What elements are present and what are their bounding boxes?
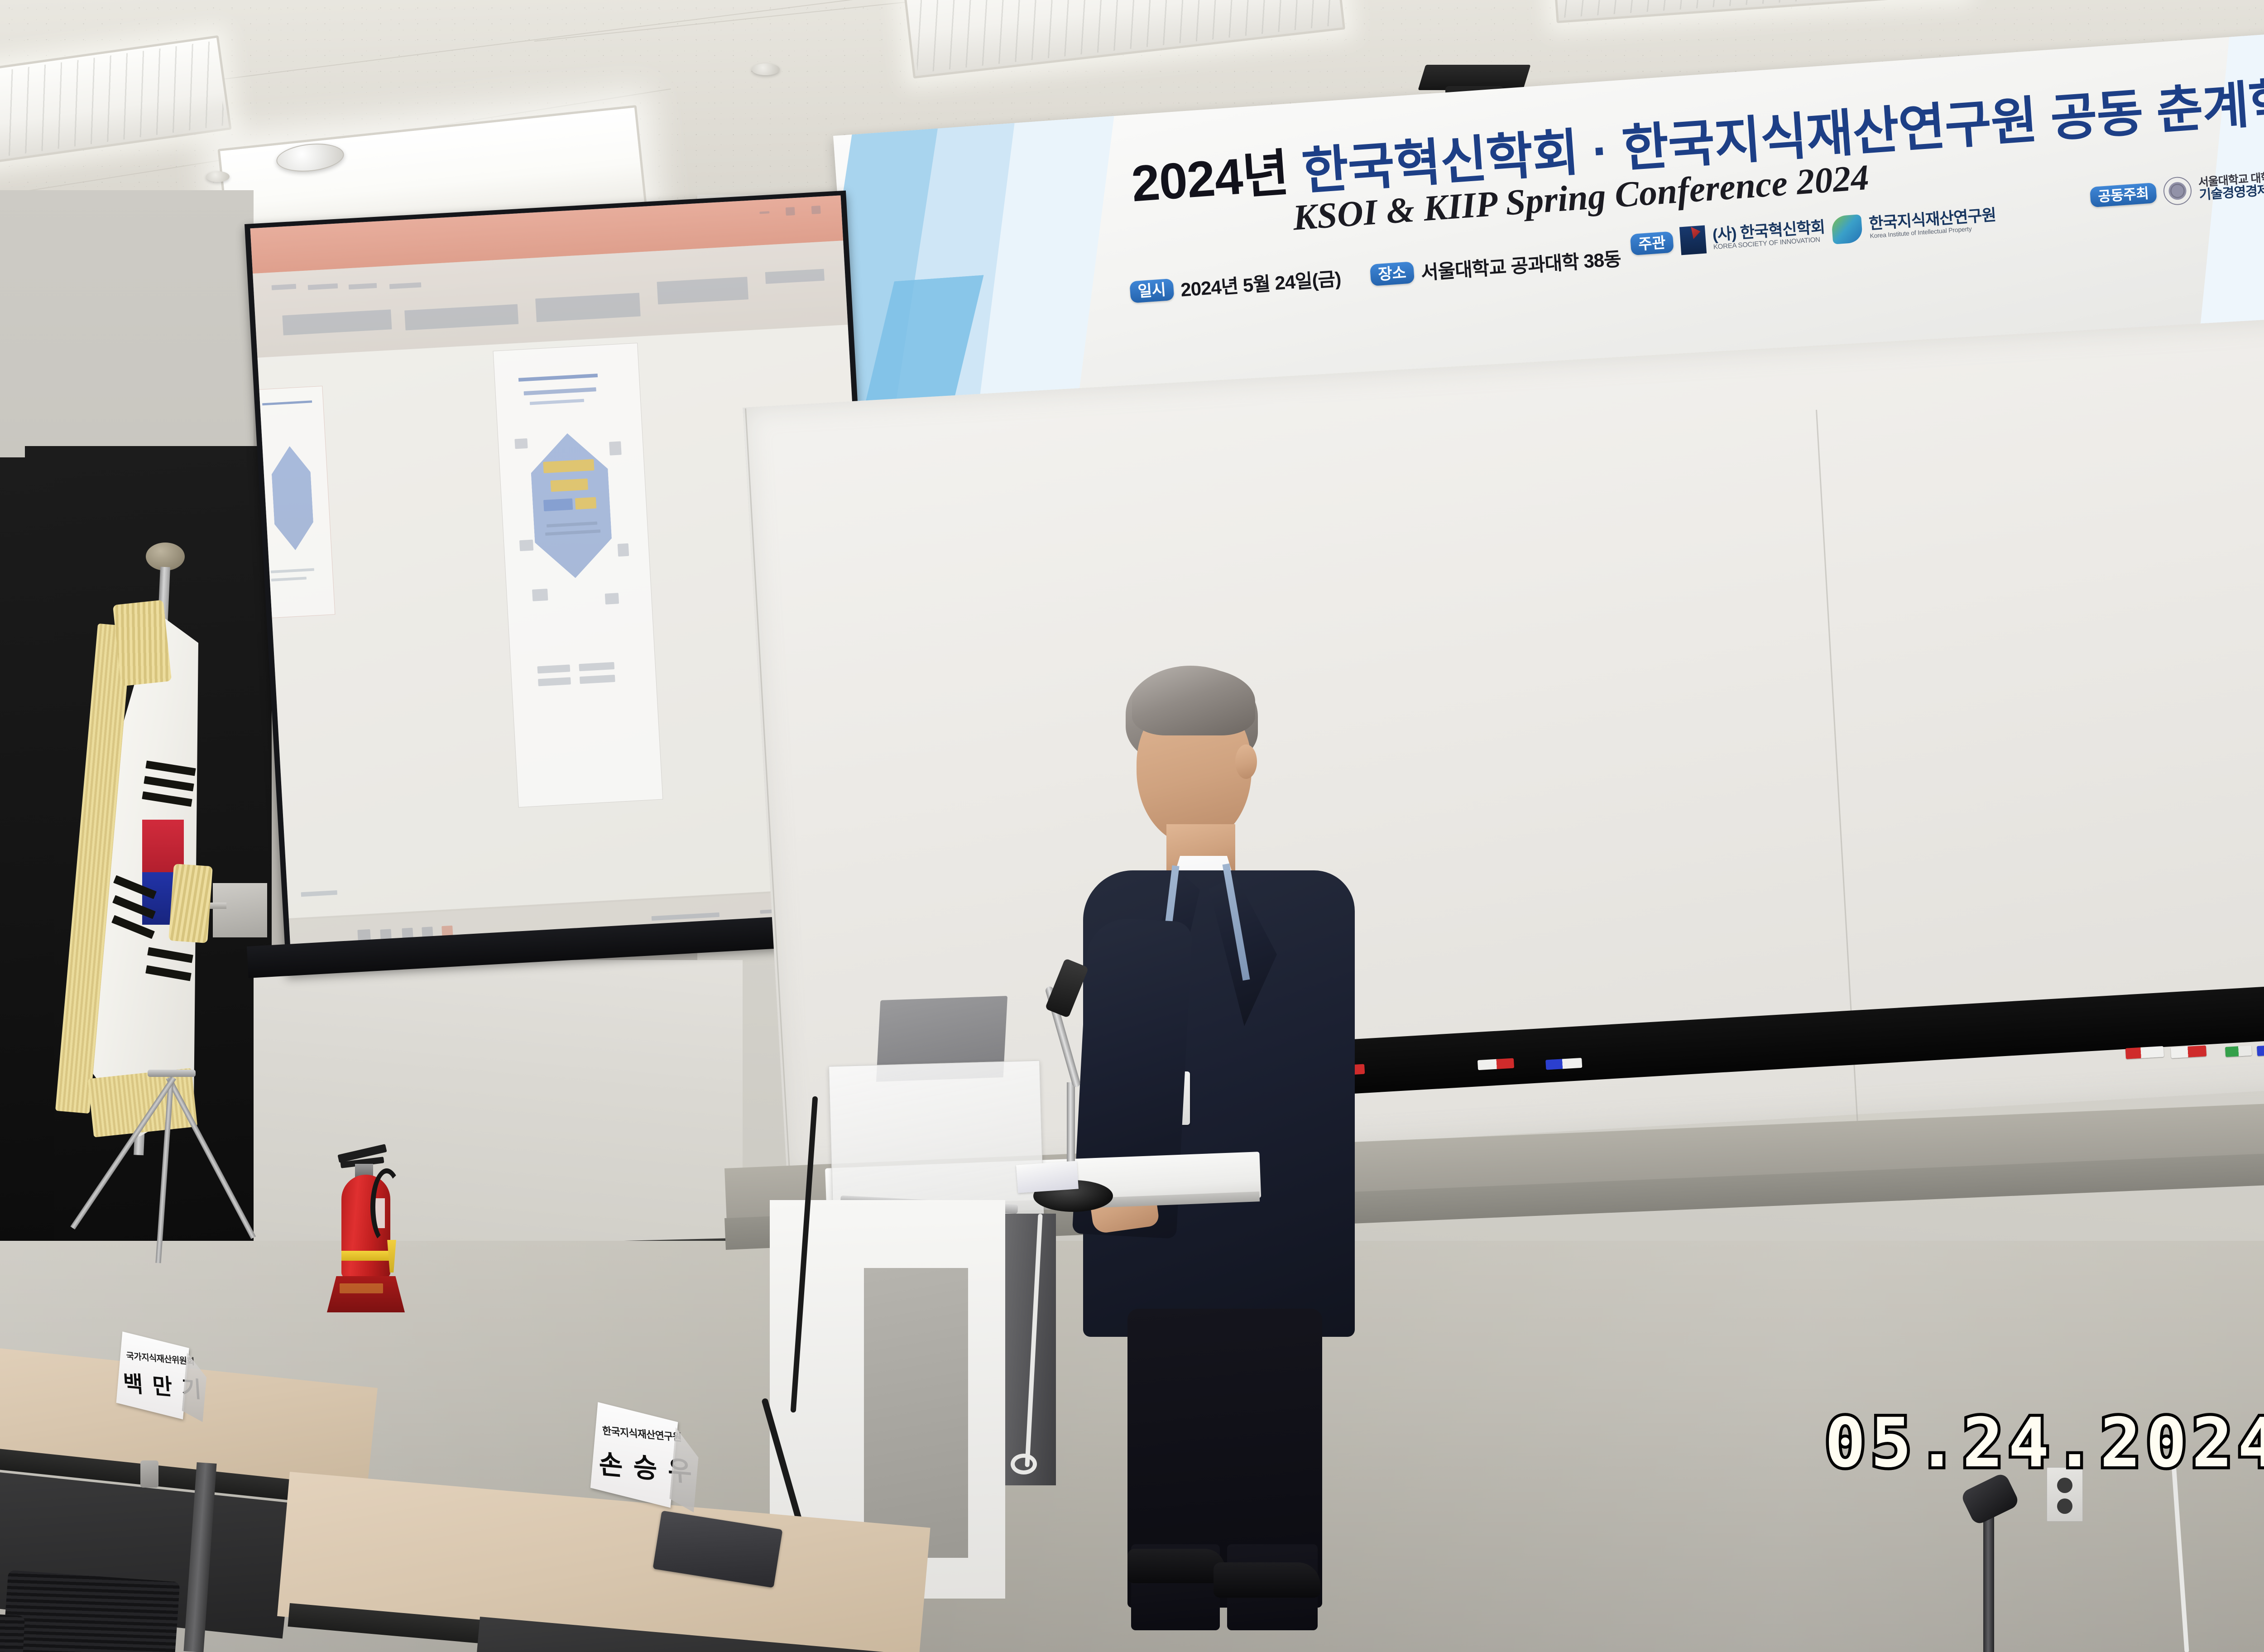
placard-face: 국가지식재산위원회 백 만 기 <box>116 1331 189 1419</box>
smoke-detector-icon <box>752 63 780 75</box>
marker-red[interactable] <box>2125 1046 2164 1059</box>
banner-title-separator: · <box>1590 122 1611 179</box>
slide-headline-3a <box>543 499 573 512</box>
conference-photo-scene: 2024년 한국혁신학회 · 한국지식재산연구원 공동 춘계학술대회 KSOI … <box>0 0 2264 1652</box>
kiip-logo-icon <box>1831 214 1863 245</box>
marker-red[interactable] <box>2171 1046 2206 1058</box>
thumb-accent-bar <box>262 400 312 405</box>
korean-flag-assembly <box>63 534 299 1268</box>
banner-title-year: 2024년 <box>1130 144 1290 212</box>
flag-tripod-collar <box>148 1070 196 1077</box>
slide-doodle-icon <box>609 441 622 455</box>
extinguisher-hose <box>370 1168 403 1245</box>
slide-doodle-icon <box>519 540 533 552</box>
name-placard-left: 국가지식재산위원회 백 만 기 <box>115 1337 207 1417</box>
flag-trigram <box>145 965 192 981</box>
ksoi-logo-icon <box>1679 226 1707 255</box>
slide-footer-logo <box>538 677 571 686</box>
podium-papers <box>1016 1161 1079 1193</box>
slide-heading-line <box>524 387 596 395</box>
outlet-socket-hole <box>2057 1498 2072 1514</box>
marker-blue[interactable] <box>1545 1058 1582 1070</box>
slide-doodle-icon <box>532 589 548 601</box>
placard-org-name: 한국지식재산연구원 <box>602 1422 682 1444</box>
current-slide[interactable] <box>493 343 663 807</box>
flag-tassel <box>168 864 213 943</box>
fire-extinguisher <box>317 1146 421 1318</box>
audience-chair[interactable] <box>1 1570 180 1652</box>
restore-icon[interactable] <box>786 207 795 216</box>
flag-trigram <box>147 947 193 963</box>
snu-crest-icon <box>2163 176 2192 206</box>
smoke-detector-icon <box>206 171 230 182</box>
slide-subheading-line <box>530 399 584 405</box>
table-cable-clip <box>140 1460 158 1488</box>
banner-meta-value-date: 2024년 5월 24일(금) <box>1180 264 1342 303</box>
slide-accent-bar <box>518 374 598 382</box>
extinguisher-yellow-band <box>341 1251 392 1261</box>
dark-wall-panel-upper <box>0 457 54 1254</box>
flagpole-finial <box>146 543 185 571</box>
podium-white-cable-coil <box>1011 1454 1037 1474</box>
banner-meta-label-venue: 장소 <box>1370 261 1415 286</box>
name-placard-right: 한국지식재산연구원 손 승 우 <box>590 1408 701 1508</box>
placard-face: 한국지식재산연구원 손 승 우 <box>590 1402 678 1508</box>
extinguisher-base <box>327 1276 405 1312</box>
slide-headline-3b <box>575 497 596 510</box>
marker-green[interactable] <box>2225 1046 2252 1057</box>
slide-headline-2 <box>551 479 588 492</box>
marker-red[interactable] <box>1477 1058 1514 1071</box>
banner-meta-row: 일시 2024년 5월 24일(금) 장소 서울대학교 공과대학 38동 <box>1129 244 1622 306</box>
slide-doodle-icon <box>618 543 629 557</box>
flag-tripod-leg <box>166 1076 256 1239</box>
slide-doodle-icon <box>605 593 619 605</box>
slide-footer-logo <box>579 662 614 671</box>
banner-credit-label-host: 주관 <box>1630 231 1674 255</box>
flag-trigram <box>145 761 196 776</box>
podium-base-inset <box>864 1268 968 1558</box>
floor-microphone-stand <box>1983 1508 1994 1652</box>
banner-credit-host: 주관 (사) 한국혁신학회 KOREA SOCIETY OF INNOVATIO… <box>1630 205 1997 259</box>
speaker-hair-top <box>1132 668 1255 735</box>
close-icon[interactable] <box>811 206 821 214</box>
banner-title-tail: 공동 춘계학술대회 <box>2048 63 2264 147</box>
slide-footer-logo <box>537 664 571 673</box>
banner-meta-value-venue: 서울대학교 공과대학 38동 <box>1420 244 1622 285</box>
flag-tassel <box>113 600 172 687</box>
slide-footer-logo <box>580 675 615 684</box>
marker-blue[interactable] <box>2257 1045 2264 1056</box>
banner-credit-label-cohost: 공동주최 <box>2090 182 2157 207</box>
placard-org-name: 국가지식재산위원회 <box>126 1349 195 1368</box>
extinguisher-label-text <box>340 1283 383 1293</box>
speaker-ear <box>1235 744 1257 779</box>
slide-doodle-icon <box>514 438 528 449</box>
flag-trigram <box>144 776 194 792</box>
camera-date-stamp: 05.24.2024 <box>1825 1404 2264 1483</box>
banner-meta-label-date: 일시 <box>1129 278 1174 303</box>
flag-trigram <box>142 792 192 807</box>
